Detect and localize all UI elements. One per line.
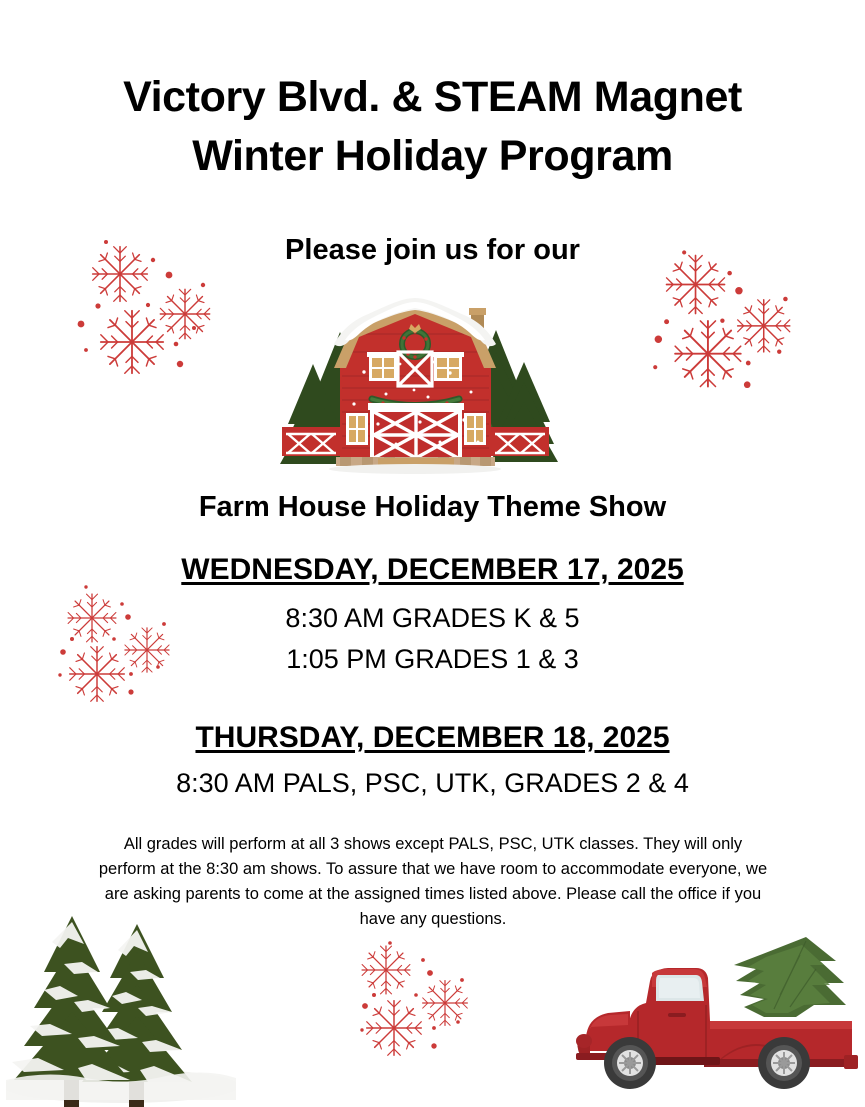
page-title-line-2: Winter Holiday Program bbox=[0, 127, 865, 186]
snowflake-cluster-bottom bbox=[338, 938, 483, 1063]
pine-trees-illustration bbox=[6, 900, 236, 1107]
theme-heading: Farm House Holiday Theme Show bbox=[0, 491, 865, 524]
date-heading-thursday: THURSDAY, DECEMBER 18, 2025 bbox=[0, 721, 865, 755]
red-truck-illustration bbox=[568, 925, 863, 1105]
show-time-thursday-morning: 8:30 AM PALS, PSC, UTK, GRADES 2 & 4 bbox=[0, 768, 865, 799]
page-title: Victory Blvd. & STEAM Magnet Winter Holi… bbox=[0, 68, 865, 187]
barn-illustration bbox=[268, 272, 563, 482]
invitation-subtitle: Please join us for our bbox=[0, 234, 865, 267]
page-title-line-1: Victory Blvd. & STEAM Magnet bbox=[0, 68, 865, 127]
show-time-wednesday-morning: 8:30 AM GRADES K & 5 bbox=[0, 603, 865, 634]
holiday-program-flyer: Victory Blvd. & STEAM Magnet Winter Holi… bbox=[0, 0, 865, 1107]
date-heading-wednesday: WEDNESDAY, DECEMBER 17, 2025 bbox=[0, 553, 865, 587]
show-time-wednesday-afternoon: 1:05 PM GRADES 1 & 3 bbox=[0, 644, 865, 675]
